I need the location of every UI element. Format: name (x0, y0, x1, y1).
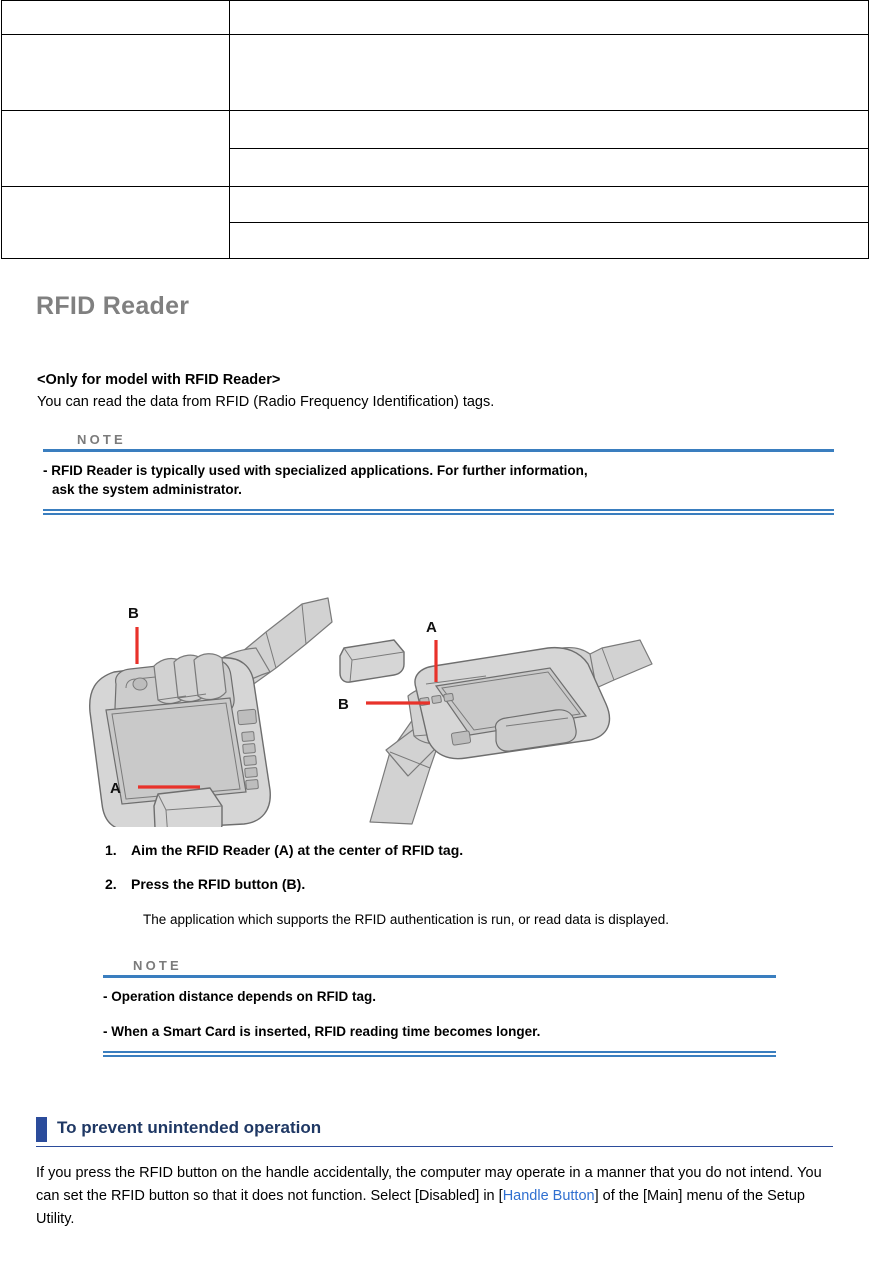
table-cell-value (230, 1, 869, 35)
note-body: - RFID Reader is typically used with spe… (43, 452, 834, 499)
callout-label-a: A (426, 619, 437, 636)
table-cell-label (2, 1, 230, 35)
table-cell-label (2, 35, 230, 111)
step-number: 2. (105, 876, 131, 892)
note-item-line1: - RFID Reader is typically used with spe… (43, 463, 588, 478)
table-row (2, 111, 869, 149)
callout-label-b: B (338, 696, 349, 713)
illustration-right: A B (338, 619, 652, 824)
note-body: - Operation distance depends on RFID tag… (103, 978, 776, 1041)
model-applicability-note: <Only for model with RFID Reader> (37, 372, 280, 388)
note-item: - RFID Reader is typically used with spe… (43, 461, 834, 499)
table-row (2, 1, 869, 35)
step-text: Press the RFID button (B). (131, 876, 305, 892)
subsection-header: To prevent unintended operation (36, 1117, 833, 1147)
table-cell-value (230, 35, 869, 111)
step-item: 2. Press the RFID button (B). (105, 876, 825, 892)
illustration-left: B A (90, 598, 332, 827)
table-cell-value (230, 111, 869, 149)
note-item-line2: ask the system administrator. (43, 480, 834, 499)
note-box-secondary: NOTE - Operation distance depends on RFI… (103, 958, 776, 1057)
note-item: - When a Smart Card is inserted, RFID re… (103, 1022, 776, 1041)
callout-label-b: B (128, 605, 139, 622)
note-label: NOTE (103, 958, 776, 973)
page-title: RFID Reader (36, 292, 189, 321)
step-detail-text: The application which supports the RFID … (143, 910, 825, 927)
callout-b-left: B (128, 605, 139, 664)
subsection-body: If you press the RFID button on the hand… (36, 1162, 833, 1231)
note-bottom-rule (103, 1051, 776, 1057)
step-number: 1. (105, 842, 131, 858)
note-bottom-rule (43, 509, 834, 515)
section-marker-icon (36, 1117, 47, 1142)
table-cell-value (230, 149, 869, 187)
callout-label-a: A (110, 780, 121, 797)
subsection-prevent-unintended-operation: To prevent unintended operation If you p… (36, 1117, 833, 1231)
step-text: Aim the RFID Reader (A) at the center of… (131, 842, 463, 858)
table-cell-label (2, 111, 230, 187)
note-label: NOTE (43, 432, 834, 447)
table-cell-value (230, 223, 869, 259)
rfid-illustration-group: .body { fill:#d6d6d6; stroke:#6e6e6e; st… (70, 592, 730, 827)
handle-button-link[interactable]: Handle Button (503, 1188, 595, 1204)
table-cell-value (230, 187, 869, 223)
subsection-title: To prevent unintended operation (57, 1117, 321, 1139)
specification-table (1, 0, 869, 259)
intro-description: You can read the data from RFID (Radio F… (37, 394, 494, 410)
note-box-primary: NOTE - RFID Reader is typically used wit… (43, 432, 834, 515)
procedure-steps: 1. Aim the RFID Reader (A) at the center… (105, 842, 825, 927)
step-item: 1. Aim the RFID Reader (A) at the center… (105, 842, 825, 858)
table-row (2, 35, 869, 111)
table-row (2, 187, 869, 223)
table-cell-label (2, 187, 230, 259)
note-item: - Operation distance depends on RFID tag… (103, 987, 776, 1006)
